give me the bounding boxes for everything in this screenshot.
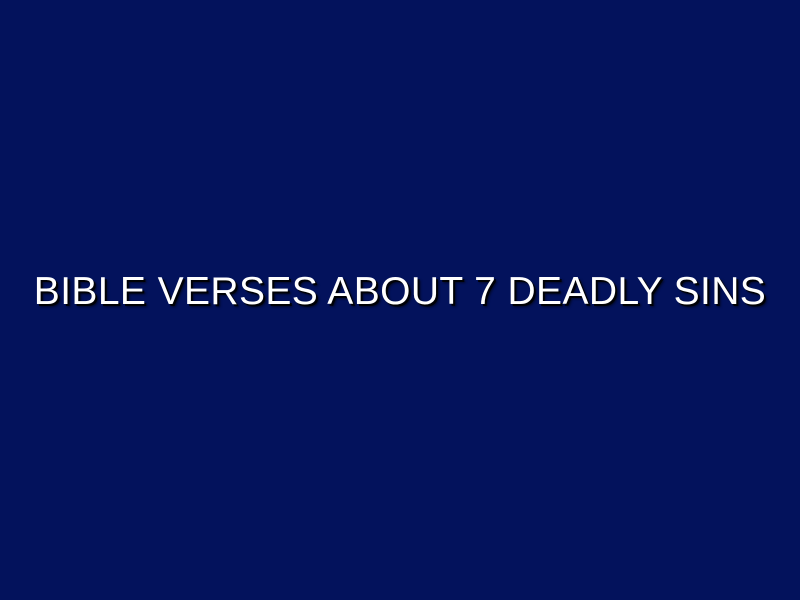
title-container: BIBLE VERSES ABOUT 7 DEADLY SINS xyxy=(0,0,800,600)
title-card: BIBLE VERSES ABOUT 7 DEADLY SINS xyxy=(0,0,800,600)
page-title: BIBLE VERSES ABOUT 7 DEADLY SINS xyxy=(22,270,778,315)
